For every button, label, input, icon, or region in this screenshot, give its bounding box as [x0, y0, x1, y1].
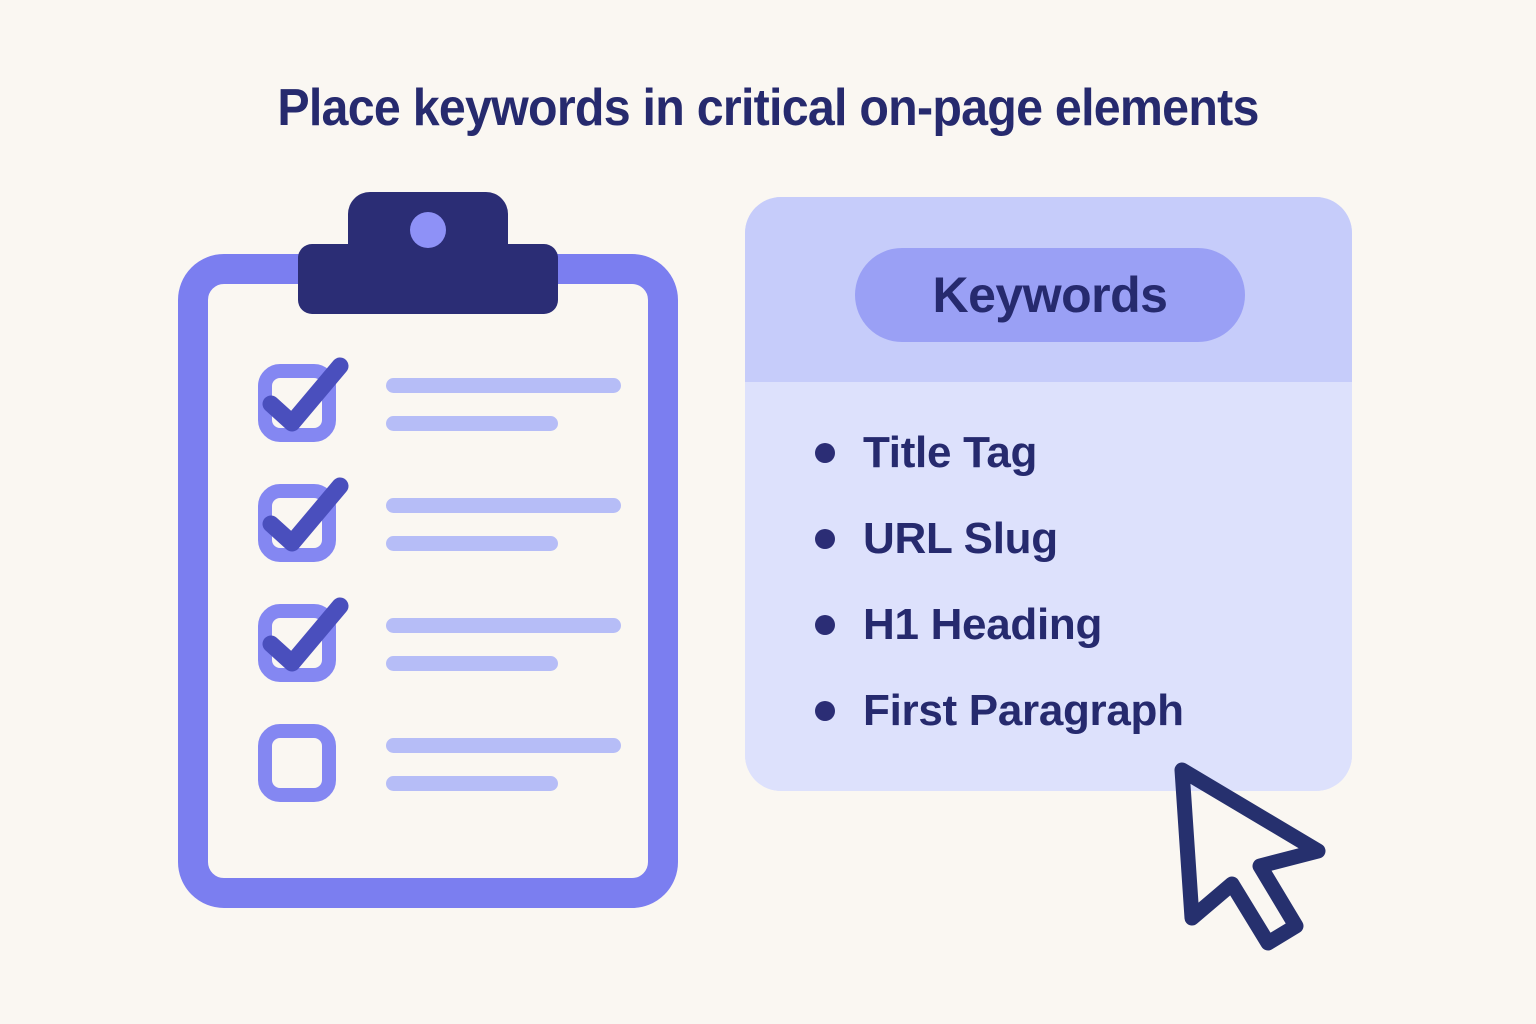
checkbox-checked-icon[interactable] [258, 364, 336, 442]
line-long [386, 738, 621, 753]
keywords-badge[interactable]: Keywords [855, 248, 1245, 342]
checkbox-checked-icon[interactable] [258, 604, 336, 682]
clipboard-clip-hole [410, 212, 446, 248]
checklist-row[interactable] [258, 604, 658, 694]
checkbox-empty-icon[interactable] [258, 724, 336, 802]
list-item[interactable]: First Paragraph [815, 668, 1184, 754]
list-item[interactable]: Title Tag [815, 410, 1184, 496]
checklist-row[interactable] [258, 484, 658, 574]
checklist-clipboard [178, 254, 678, 908]
checklist-row[interactable] [258, 724, 658, 814]
list-item-label: First Paragraph [863, 686, 1184, 736]
keywords-card-header: Keywords [745, 197, 1352, 382]
list-item-label: Title Tag [863, 428, 1037, 478]
mouse-pointer-icon [1168, 758, 1338, 953]
checklist-row-lines [386, 738, 646, 791]
page-title: Place keywords in critical on-page eleme… [54, 78, 1482, 138]
line-short [386, 536, 558, 551]
list-item-label: H1 Heading [863, 600, 1102, 650]
line-short [386, 656, 558, 671]
bullet-icon [815, 701, 835, 721]
checkbox-checked-icon[interactable] [258, 484, 336, 562]
line-long [386, 498, 621, 513]
keywords-card: Keywords Title Tag URL Slug H1 Heading F… [745, 197, 1352, 791]
checklist-row-lines [386, 378, 646, 431]
keywords-card-body: Title Tag URL Slug H1 Heading First Para… [745, 382, 1352, 791]
line-long [386, 378, 621, 393]
keywords-list: Title Tag URL Slug H1 Heading First Para… [815, 410, 1184, 754]
clipboard-clip-icon [298, 192, 558, 314]
checklist-row-lines [386, 498, 646, 551]
bullet-icon [815, 615, 835, 635]
line-short [386, 416, 558, 431]
line-long [386, 618, 621, 633]
bullet-icon [815, 443, 835, 463]
list-item[interactable]: URL Slug [815, 496, 1184, 582]
list-item[interactable]: H1 Heading [815, 582, 1184, 668]
keywords-badge-label: Keywords [933, 266, 1168, 324]
bullet-icon [815, 529, 835, 549]
clipboard-clip-bar [298, 244, 558, 314]
line-short [386, 776, 558, 791]
checklist-row-lines [386, 618, 646, 671]
list-item-label: URL Slug [863, 514, 1058, 564]
checklist-row[interactable] [258, 364, 658, 454]
